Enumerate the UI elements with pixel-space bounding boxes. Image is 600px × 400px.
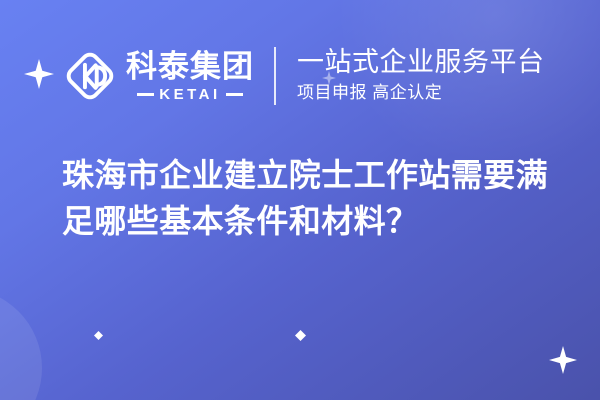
ketai-diamond-kd-monogram-icon — [62, 48, 118, 104]
wordmark-rule-right — [226, 93, 243, 96]
page-title: 珠海市企业建立院士工作站需要满足哪些基本条件和材料？ — [62, 152, 562, 244]
header-divider — [274, 47, 276, 105]
diamond-icon-mid-center — [295, 330, 306, 341]
banner-header: 科泰集团 KETAI 一站式企业服务平台 项目申报 高企认定 — [0, 40, 600, 112]
brand-name-en: KETAI — [159, 87, 220, 102]
sparkle-icon-bottom-right — [549, 346, 577, 374]
tagline-primary: 一站式企业服务平台 — [297, 48, 545, 77]
brand-name-en-row: KETAI — [126, 87, 254, 102]
brand-wordmark: 科泰集团 KETAI — [126, 51, 254, 102]
tagline-secondary: 项目申报 高企认定 — [297, 83, 545, 103]
tagline-block: 一站式企业服务平台 项目申报 高企认定 — [297, 48, 545, 104]
wordmark-rule-left — [137, 93, 154, 96]
brand-lockup[interactable]: 科泰集团 KETAI — [62, 48, 254, 104]
promo-banner: 科泰集团 KETAI 一站式企业服务平台 项目申报 高企认定 珠海市企业建立院士… — [0, 0, 600, 400]
brand-name-cn: 科泰集团 — [126, 51, 254, 82]
diamond-icon-mid-left — [94, 331, 103, 340]
bottom-left-circle — [0, 288, 42, 400]
